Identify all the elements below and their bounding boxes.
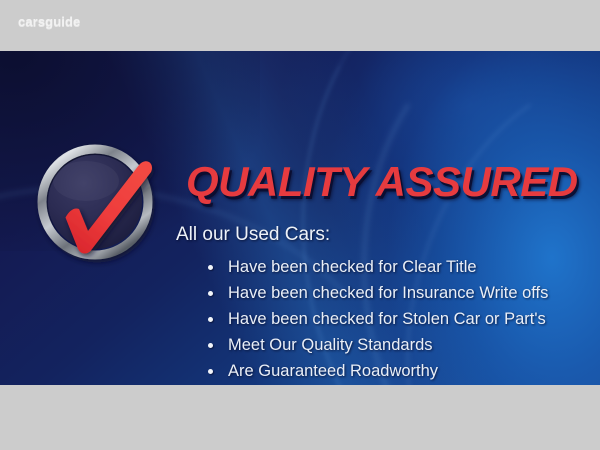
list-item: Are Guaranteed Roadworthy xyxy=(204,358,548,384)
banner-panel: QUALITY ASSURED All our Used Cars: Have … xyxy=(0,51,600,385)
bullet-dot-icon xyxy=(208,343,213,348)
page-title: QUALITY ASSURED xyxy=(186,158,578,206)
list-item-label: Are Guaranteed Roadworthy xyxy=(228,362,438,380)
bottom-letterbox-band xyxy=(0,385,600,450)
quality-assured-banner-image: carsguide xyxy=(0,0,600,450)
list-item-label: Meet Our Quality Standards xyxy=(228,336,433,354)
bullet-dot-icon xyxy=(208,265,213,270)
list-item: Have been checked for Stolen Car or Part… xyxy=(204,306,548,332)
checkmark-badge xyxy=(38,145,156,259)
badge-gloss xyxy=(53,161,119,201)
list-item: Have been checked for Insurance Write of… xyxy=(204,280,548,306)
list-item-label: Have been checked for Stolen Car or Part… xyxy=(228,310,546,328)
list-item: Have been checked for Clear Title xyxy=(204,254,548,280)
top-letterbox-band xyxy=(0,0,600,51)
bullet-dot-icon xyxy=(208,291,213,296)
lead-in-text: All our Used Cars: xyxy=(176,224,330,246)
list-item-label: Have been checked for Clear Title xyxy=(228,258,477,276)
list-item: Meet Our Quality Standards xyxy=(204,332,548,358)
benefits-list: Have been checked for Clear Title Have b… xyxy=(204,254,548,385)
bullet-dot-icon xyxy=(208,369,213,374)
list-item-label: Have been checked for Insurance Write of… xyxy=(228,284,548,302)
carsguide-watermark: carsguide xyxy=(18,14,80,29)
bullet-dot-icon xyxy=(208,317,213,322)
checkmark-icon xyxy=(38,145,156,259)
